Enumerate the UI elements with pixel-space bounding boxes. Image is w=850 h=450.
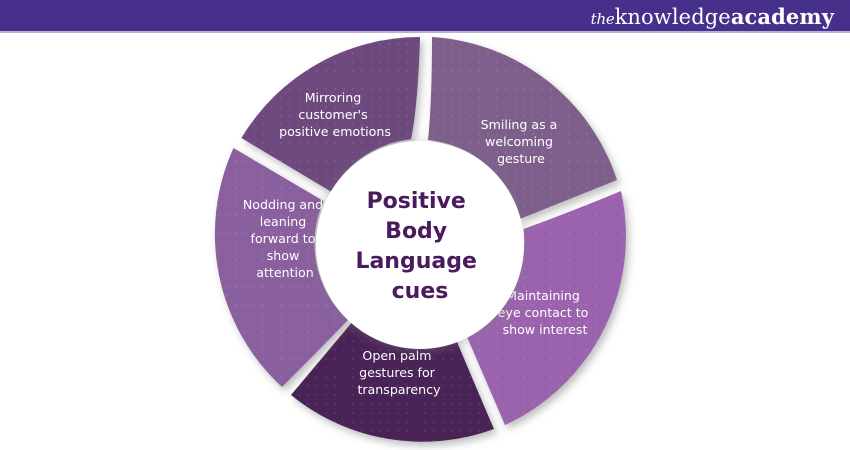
logo-word-academy: academy	[731, 4, 834, 29]
donut-chart-svg: Mirroring customer's positive emotions S…	[0, 33, 850, 450]
cycle-diagram: Mirroring customer's positive emotions S…	[0, 33, 850, 450]
brand-logo: theknowledgeacademy	[591, 6, 834, 28]
header-bar: theknowledgeacademy	[0, 0, 850, 33]
logo-word-knowledge: knowledge	[615, 5, 731, 29]
page-root: theknowledgeacademy	[0, 0, 850, 450]
center-hub: Positive Body Language cues	[316, 141, 524, 349]
logo-word-the: the	[591, 10, 615, 28]
segment-eye-contact-label: Maintaining eye contact to show interest	[498, 288, 593, 337]
segment-open-palm-label: Open palm gestures for transparency	[357, 348, 441, 397]
